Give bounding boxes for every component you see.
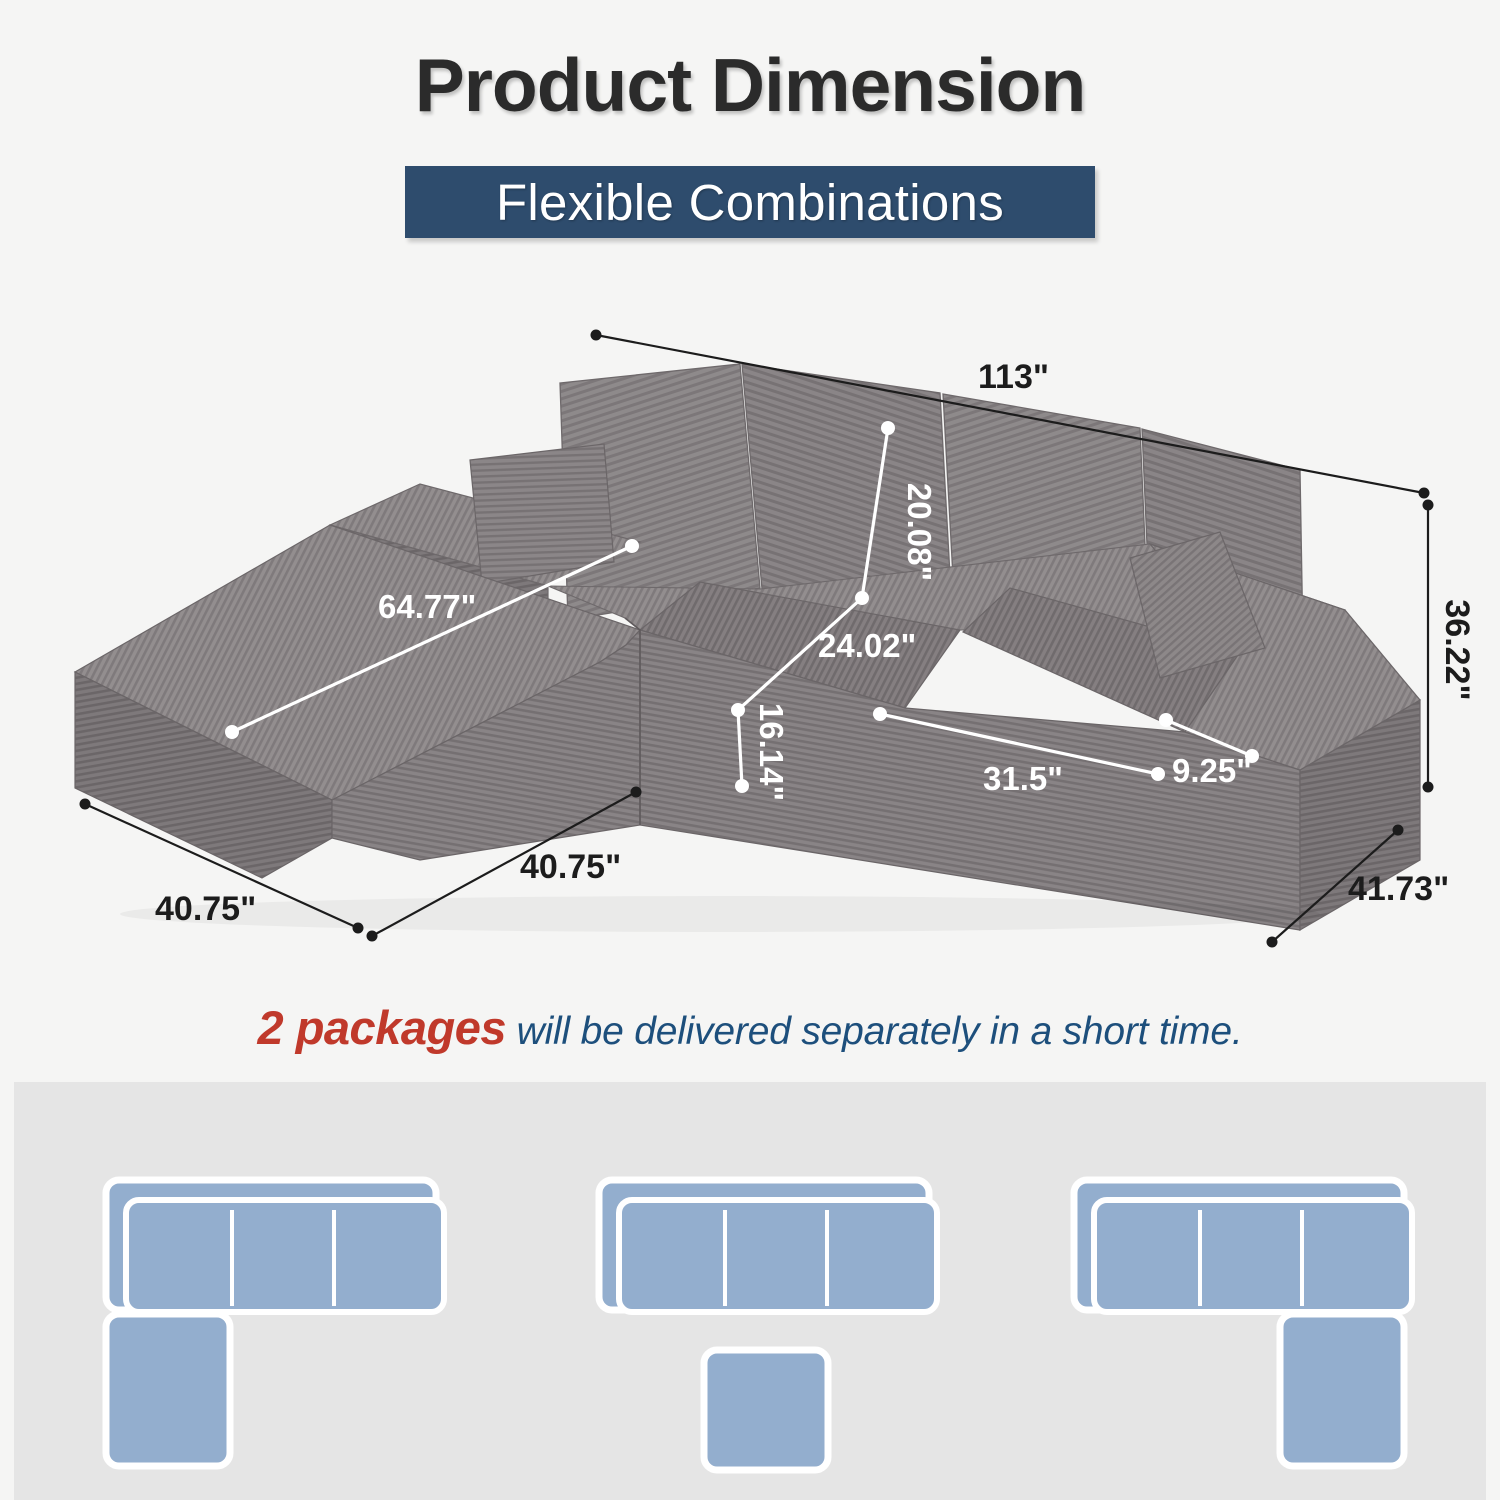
sofa-diagram-svg: 113" 36.22" 41.73" 40.75" 40.75"	[0, 300, 1500, 980]
combo-detached[interactable]	[599, 1180, 937, 1470]
subtitle-banner: Flexible Combinations	[405, 166, 1095, 238]
dimension-label-sofa-depth-right: 41.73"	[1348, 870, 1449, 908]
dimension-label-arm-width: 9.25"	[1172, 752, 1252, 789]
dimension-label-seat-height: 16.14"	[753, 703, 790, 801]
combo-left-chaise[interactable]	[106, 1180, 444, 1466]
combo3-seat	[1094, 1200, 1412, 1312]
delivery-tagline: 2 packages will be delivered separately …	[0, 1000, 1500, 1055]
dimension-label-overall-width: 113"	[978, 358, 1049, 396]
combination-panel	[14, 1082, 1486, 1500]
combo-right-chaise[interactable]	[1074, 1180, 1412, 1466]
combo2-seat	[619, 1200, 937, 1312]
combo3-chaise	[1280, 1314, 1404, 1466]
dimension-label-backrest-height: 20.08"	[901, 483, 938, 581]
dimension-label-chaise-seat-length: 64.77"	[378, 588, 476, 625]
dimension-label-overall-height: 36.22"	[1438, 599, 1476, 700]
dimension-label-seat-depth: 24.02"	[818, 627, 916, 664]
dimension-label-chaise-width-left: 40.75"	[155, 890, 256, 928]
tagline-highlight: 2 packages	[258, 1001, 506, 1054]
combo1-chaise	[106, 1314, 230, 1466]
product-illustration: 113" 36.22" 41.73" 40.75" 40.75"	[0, 300, 1500, 980]
combination-diagrams-svg	[14, 1082, 1486, 1500]
combo2-ottoman	[704, 1350, 828, 1470]
combo1-seat	[126, 1200, 444, 1312]
page-title: Product Dimension	[0, 42, 1500, 128]
tagline-rest: will be delivered separately in a short …	[506, 1010, 1243, 1053]
subtitle-text: Flexible Combinations	[496, 173, 1004, 232]
dimension-label-chaise-depth-front: 40.75"	[520, 848, 621, 886]
dimension-label-seat-width: 31.5"	[983, 760, 1063, 797]
